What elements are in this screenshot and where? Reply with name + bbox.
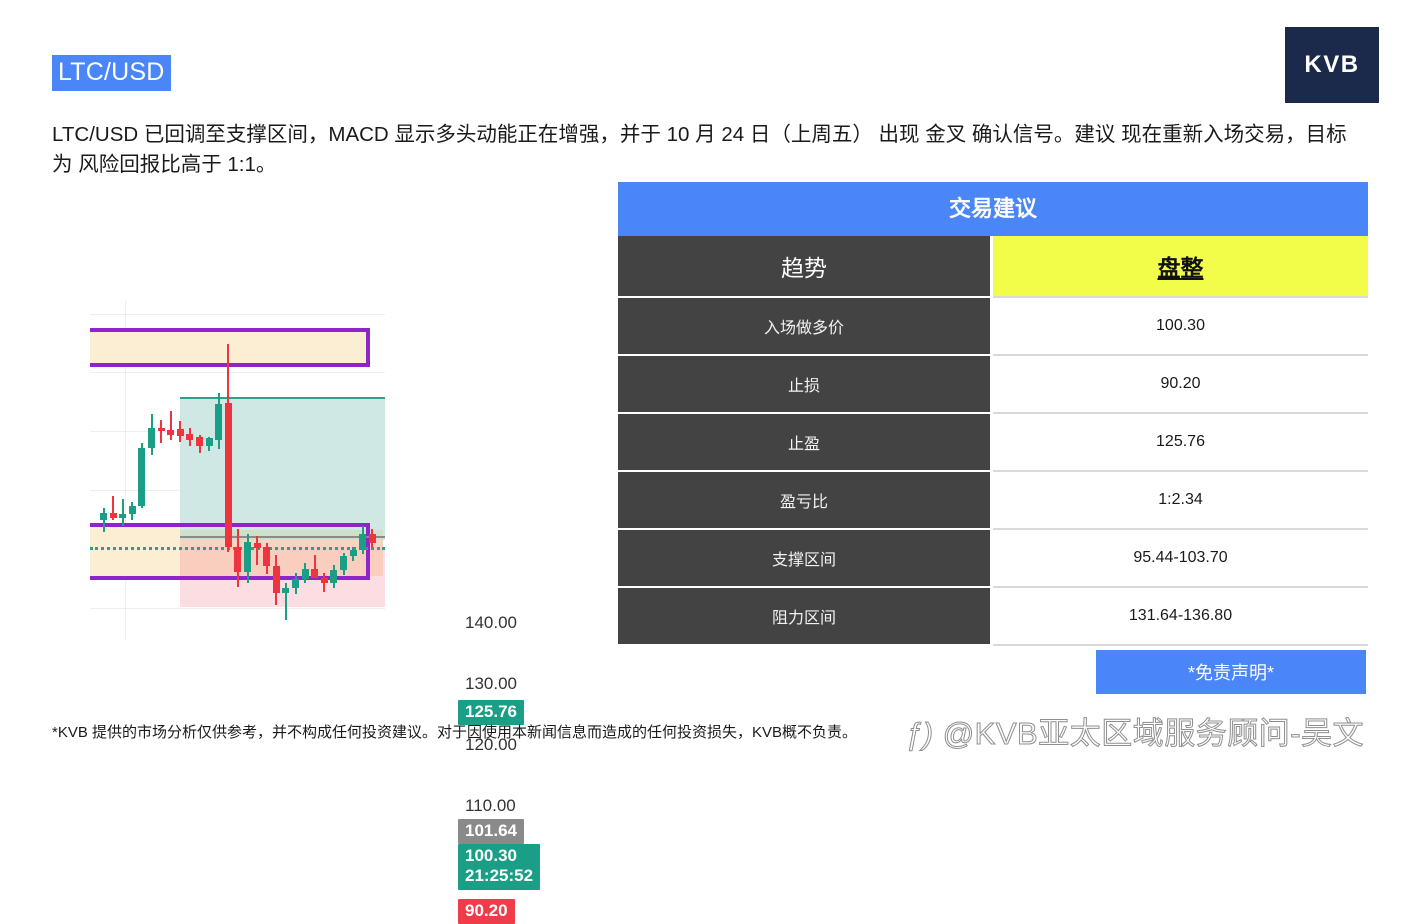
- table-cell-key: 盈亏比: [618, 472, 993, 530]
- price-tag-entry: 100.30 21:25:52: [458, 844, 540, 890]
- table-cell-key: 阻力区间: [618, 588, 993, 646]
- table-cell-value: 131.64-136.80: [993, 588, 1368, 646]
- table-row: 止盈125.76: [618, 414, 1368, 472]
- candlestick-body: [196, 437, 203, 445]
- zone-resistance-box-right-edge: [366, 328, 370, 366]
- candlestick-body: [148, 428, 155, 448]
- trade-recommendation-table: 交易建议 趋势 盘整 入场做多价100.30止损90.20止盈125.76盈亏比…: [618, 182, 1368, 646]
- axis-tick-130: 130.00: [465, 674, 517, 694]
- candlestick-body: [186, 434, 193, 440]
- price-tag-stop-loss: 90.20: [458, 899, 515, 924]
- trend-value: 盘整: [993, 236, 1368, 298]
- footer-disclaimer: *KVB 提供的市场分析仅供参考，并不构成任何投资建议。对于因使用本新闻信息而造…: [52, 722, 952, 744]
- table-cell-key: 入场做多价: [618, 298, 993, 356]
- candlestick-body: [350, 550, 357, 556]
- price-tag-entry-time: 21:25:52: [465, 866, 533, 886]
- trend-label: 趋势: [618, 236, 993, 298]
- candlestick-body: [119, 514, 126, 518]
- candlestick-body: [138, 448, 145, 506]
- candlestick-wick: [256, 536, 258, 564]
- table-cell-key: 止损: [618, 356, 993, 414]
- zone-resistance-box: [90, 328, 370, 366]
- candlestick-body: [282, 588, 289, 593]
- price-tag-entry-value: 100.30: [465, 846, 533, 866]
- candlestick-body: [321, 578, 328, 584]
- table-cell-key: 止盈: [618, 414, 993, 472]
- price-chart: 140.00 130.00 120.00 110.00 125.76 101.6…: [80, 300, 550, 645]
- table-cell-value: 90.20: [993, 356, 1368, 414]
- grid-line: [90, 372, 385, 373]
- chart-plot-area: [90, 300, 385, 640]
- candlestick-body: [215, 404, 222, 439]
- table-row: 支撑区间95.44-103.70: [618, 530, 1368, 588]
- table-row: 盈亏比1:2.34: [618, 472, 1368, 530]
- table-cell-value: 95.44-103.70: [993, 530, 1368, 588]
- candlestick-body: [225, 403, 232, 547]
- zone-profit: [180, 397, 385, 539]
- grid-line: [90, 608, 385, 609]
- candlestick-body: [273, 566, 280, 593]
- axis-tick-110: 110.00: [465, 796, 516, 816]
- candlestick-body: [369, 534, 376, 543]
- page-title: LTC/USD: [52, 55, 171, 91]
- candlestick-wick: [160, 420, 162, 444]
- candlestick-body: [254, 543, 261, 548]
- table-row: 入场做多价100.30: [618, 298, 1368, 356]
- table-cell-key: 支撑区间: [618, 530, 993, 588]
- watermark-text: @KVB亚太区域服务顾问-吴文: [943, 716, 1364, 751]
- candlestick-body: [311, 569, 318, 577]
- candlestick-body: [110, 513, 117, 518]
- price-tag-stop-line: 101.64: [458, 819, 524, 844]
- watermark-icon: ƒ): [905, 716, 934, 751]
- candlestick-body: [234, 547, 241, 572]
- candlestick-body: [206, 438, 213, 445]
- candlestick-body: [167, 430, 174, 435]
- table-row: 阻力区间131.64-136.80: [618, 588, 1368, 646]
- candlestick-body: [292, 579, 299, 588]
- line-take-profit: [180, 397, 385, 399]
- logo-text: KVB: [1304, 51, 1359, 79]
- axis-tick-140: 140.00: [465, 613, 517, 633]
- table-cell-value: 100.30: [993, 298, 1368, 356]
- watermark: ƒ) @KVB亚太区域服务顾问-吴文: [905, 712, 1364, 756]
- grid-line: [90, 314, 385, 315]
- kvb-logo: KVB: [1285, 27, 1379, 103]
- candlestick-wick: [170, 411, 172, 440]
- analysis-summary: LTC/USD 已回调至支撑区间，MACD 显示多头动能正在增强，并于 10 月…: [52, 120, 1347, 180]
- candlestick-body: [177, 429, 184, 436]
- table-title: 交易建议: [618, 182, 1368, 236]
- candlestick-body: [100, 513, 107, 520]
- candlestick-body: [129, 506, 136, 514]
- line-stop-marker: [180, 536, 385, 538]
- candlestick-body: [340, 556, 347, 570]
- candlestick-body: [263, 547, 270, 566]
- disclaimer-button[interactable]: *免责声明*: [1096, 650, 1366, 694]
- table-row-trend: 趋势 盘整: [618, 236, 1368, 298]
- candlestick-body: [158, 428, 165, 432]
- table-row: 止损90.20: [618, 356, 1368, 414]
- candlestick-body: [302, 569, 309, 578]
- slide-root: LTC/USD KVB LTC/USD 已回调至支撑区间，MACD 显示多头动能…: [0, 0, 1402, 777]
- table-body: 入场做多价100.30止损90.20止盈125.76盈亏比1:2.34支撑区间9…: [618, 298, 1368, 646]
- candlestick-body: [244, 542, 251, 571]
- table-cell-value: 1:2.34: [993, 472, 1368, 530]
- candlestick-body: [330, 570, 337, 583]
- table-cell-value: 125.76: [993, 414, 1368, 472]
- candlestick-wick: [122, 499, 124, 526]
- candlestick-body: [359, 534, 366, 550]
- candlestick-wick: [103, 508, 105, 532]
